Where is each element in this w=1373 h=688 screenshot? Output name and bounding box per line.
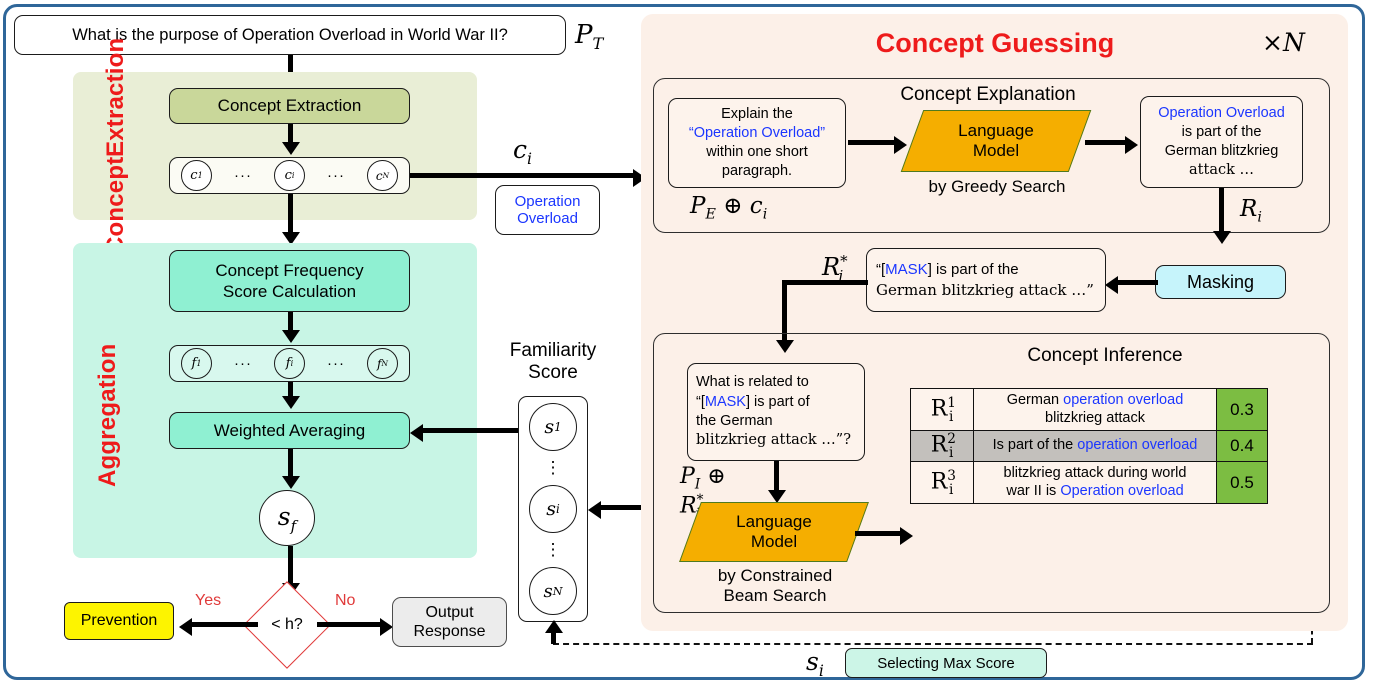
arrowhead-right <box>1125 136 1138 154</box>
row-text-2: Is part of the operation overload <box>974 431 1217 462</box>
lm-beam-caption-line1: by Constrained <box>675 566 875 586</box>
arrow-output-to-masking <box>1219 188 1224 234</box>
output-line1: Operation Overload <box>1158 104 1285 123</box>
region-label-concept-extraction: Concept Extraction <box>80 76 152 216</box>
row-score-2: 0.4 <box>1217 431 1268 462</box>
arrow-tokens-to-aggregation <box>288 194 293 236</box>
feedback-dashed-line <box>553 643 1313 645</box>
arrow-query-to-lm <box>774 461 779 493</box>
frequency-token-list: f1 ··· fi ··· fN <box>169 345 410 382</box>
question-symbol-PT: PT <box>575 20 603 53</box>
lm-greedy-line1: Language <box>958 121 1034 141</box>
region-label-aggregation: Aggregation <box>88 320 128 510</box>
arrowhead-left <box>1105 276 1118 294</box>
arrowhead-left <box>588 501 601 519</box>
masking-box[interactable]: Masking <box>1155 265 1286 299</box>
step-concept-extraction[interactable]: Concept Extraction <box>169 88 410 124</box>
step-concept-frequency-line2: Score Calculation <box>223 281 356 302</box>
step-concept-frequency-line1: Concept Frequency <box>215 260 363 281</box>
row-score-1: 0.3 <box>1217 389 1268 431</box>
concept-value-box: Operation Overload <box>495 185 600 235</box>
token-cN: cN <box>367 160 398 191</box>
output-response-line2: Response <box>413 622 485 641</box>
arrowhead-right <box>900 527 913 545</box>
query-line1: What is related to <box>696 373 809 392</box>
query-line2: “[MASK] is part of <box>696 393 810 412</box>
language-model-beam-label: Language Model <box>690 502 858 562</box>
token-fi: fi <box>274 348 305 379</box>
familiarity-score-list: s1 ⋮ si ⋮ sN <box>518 396 588 622</box>
region-label-line1: Concept <box>104 157 128 254</box>
repeat-badge: ×N <box>1262 28 1305 57</box>
prompt-line3: within one short <box>706 143 808 162</box>
arrowhead-left <box>410 424 423 442</box>
step-weighted-averaging[interactable]: Weighted Averaging <box>169 412 410 449</box>
query-line4: blitzkrieg attack …”? <box>696 431 851 450</box>
masked-line2: German blitzkrieg attack …” <box>876 280 1094 300</box>
final-score-node: sf <box>259 490 315 546</box>
decision-threshold-label-wrap: < h? <box>256 594 318 656</box>
query-line3: the German <box>696 412 773 431</box>
familiarity-score-title: Familiarity Score <box>492 340 614 384</box>
score-dots-1: ⋮ <box>545 463 562 473</box>
arrowhead-down <box>282 330 300 343</box>
table-row[interactable]: R2i Is part of the operation overload 0.… <box>911 431 1268 462</box>
arrowhead-down <box>282 396 300 409</box>
diagram-canvas: What is the purpose of Operation Overloa… <box>0 0 1373 688</box>
table-row[interactable]: R3i blitzkrieg attack during world war I… <box>911 462 1268 504</box>
row-id-3: R3i <box>911 462 974 504</box>
row-score-3: 0.5 <box>1217 462 1268 504</box>
token-f-ellipsis-1: ··· <box>234 355 252 372</box>
concept-token-list: c1 ··· ci ··· cN <box>169 157 410 194</box>
row-text-3: blitzkrieg attack during world war II is… <box>974 462 1217 504</box>
inference-query-box: What is related to “[MASK] is part of th… <box>687 363 865 461</box>
output-line2: is part of the <box>1182 123 1262 142</box>
inference-results-table: R1i German operation overload blitzkrieg… <box>910 388 1268 504</box>
arrow-prompt-to-model <box>848 140 896 145</box>
lm-beam-line2: Model <box>751 532 797 552</box>
masking-label: Masking <box>1187 272 1254 293</box>
row-text-1: German operation overload blitzkrieg att… <box>974 389 1217 431</box>
prompt-line4: paragraph. <box>722 162 792 181</box>
selecting-max-score-box[interactable]: Selecting Max Score <box>845 648 1047 678</box>
question-text: What is the purpose of Operation Overloa… <box>72 26 508 45</box>
region-label-line2: Extraction <box>104 38 128 157</box>
output-response-line1: Output <box>425 603 473 622</box>
explanation-output-symbol: Ri <box>1240 196 1262 226</box>
token-ellipsis-1: ··· <box>234 167 252 184</box>
output-line4: attack … <box>1189 161 1254 180</box>
output-line3: German blitzkrieg <box>1165 142 1279 161</box>
arrow-ci-to-guessing <box>410 173 635 178</box>
row-id-2: R2i <box>911 431 974 462</box>
decision-threshold-label: < h? <box>271 616 303 634</box>
masked-text-box: “[MASK] is part of the German blitzkrieg… <box>866 248 1106 312</box>
arrowhead-right <box>894 136 907 154</box>
concept-guessing-title: Concept Guessing <box>700 28 1290 59</box>
prevention-box[interactable]: Prevention <box>64 602 174 640</box>
arrowhead-up <box>545 620 563 633</box>
arrowhead-down <box>282 476 300 489</box>
arrow-decision-no <box>317 622 382 627</box>
step-concept-extraction-label: Concept Extraction <box>218 96 362 116</box>
prompt-line1: Explain the <box>721 105 793 124</box>
decision-no-label: No <box>335 592 355 610</box>
arrow-decision-yes <box>192 622 258 627</box>
concept-value-line2: Overload <box>517 210 578 227</box>
feedback-symbol-si: si <box>806 647 824 680</box>
lm-beam-caption-line2: Beam Search <box>675 586 875 606</box>
arrow-sf-to-decision <box>288 546 293 586</box>
step-weighted-averaging-label: Weighted Averaging <box>214 421 366 441</box>
arrow-masking-to-masked-text <box>1118 280 1158 285</box>
arrow-model-to-output <box>1085 140 1127 145</box>
arrow-weighted-to-sf <box>288 449 293 479</box>
concept-inference-title: Concept Inference <box>905 345 1305 367</box>
decision-yes-label: Yes <box>195 592 221 610</box>
score-node-sN: sN <box>529 567 577 615</box>
explanation-prompt-box: Explain the “Operation Overload” within … <box>668 98 846 188</box>
arrowhead-down <box>1213 231 1231 244</box>
token-f1: f1 <box>181 348 212 379</box>
score-dots-2: ⋮ <box>545 545 562 555</box>
token-ellipsis-2: ··· <box>327 167 345 184</box>
selecting-max-score-label: Selecting Max Score <box>877 655 1015 672</box>
arrowhead-left <box>179 618 192 636</box>
region-label-aggregation-text: Aggregation <box>96 343 120 487</box>
question-box: What is the purpose of Operation Overloa… <box>14 15 566 55</box>
arrow-lm-to-table <box>855 531 903 536</box>
prompt-line2: “Operation Overload” <box>689 124 825 143</box>
explanation-output-box: Operation Overload is part of the German… <box>1140 96 1303 188</box>
concept-value-line1: Operation <box>515 193 581 210</box>
arrow-masked-elbow-h <box>782 280 868 285</box>
familiarity-score-line1: Familiarity <box>492 340 614 362</box>
token-fN: fN <box>367 348 398 379</box>
token-f-ellipsis-2: ··· <box>327 355 345 372</box>
token-ci: ci <box>274 160 305 191</box>
arrow-familiarity-to-weighted <box>423 428 518 433</box>
explanation-prompt-symbol: PE ⊕ ci <box>690 193 767 223</box>
table-row[interactable]: R1i German operation overload blitzkrieg… <box>911 389 1268 431</box>
language-model-greedy-caption: by Greedy Search <box>902 177 1092 197</box>
score-node-si: si <box>529 485 577 533</box>
familiarity-score-line2: Score <box>492 362 614 384</box>
output-response-box[interactable]: Output Response <box>392 597 507 647</box>
score-node-s1: s1 <box>529 403 577 451</box>
lm-greedy-line2: Model <box>973 141 1019 161</box>
lm-beam-line1: Language <box>736 512 812 532</box>
language-model-beam-caption: by Constrained Beam Search <box>675 566 875 607</box>
language-model-greedy-label: Language Model <box>912 110 1080 172</box>
token-c1: c1 <box>181 160 212 191</box>
arrowhead-down <box>282 142 300 155</box>
final-score-label: sf <box>278 502 296 535</box>
concept-explanation-title: Concept Explanation <box>853 84 1123 106</box>
row-id-1: R1i <box>911 389 974 431</box>
step-concept-frequency[interactable]: Concept Frequency Score Calculation <box>169 250 410 312</box>
prevention-label: Prevention <box>81 612 158 630</box>
edge-symbol-ci: ci <box>513 135 532 168</box>
masked-line1: “[MASK] is part of the <box>876 260 1019 280</box>
